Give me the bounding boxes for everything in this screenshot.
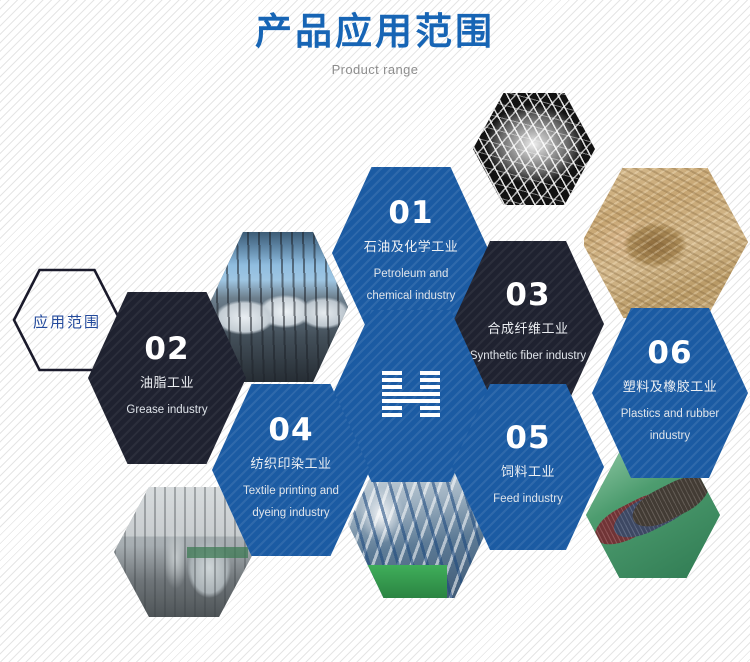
cell-03-label-cn: 合成纤维工业 <box>487 322 568 338</box>
feed-pellets-photo <box>582 166 748 318</box>
collage-frame <box>582 166 748 318</box>
cell-02-number: 02 <box>144 334 189 365</box>
cell-04-number: 04 <box>268 415 313 446</box>
company-h-logo-icon <box>382 371 440 421</box>
page-title: 产品应用范围 <box>0 8 750 56</box>
cell-02-label-en: Grease industry <box>126 400 207 422</box>
cell-01-number: 01 <box>388 198 433 229</box>
cell-06-label-cn: 塑料及橡胶工业 <box>623 380 718 396</box>
cell-06-label-en: Plastics and rubber industry <box>609 404 731 448</box>
cell-05-label-cn: 饲料工业 <box>501 465 555 481</box>
cell-04-label-cn: 纺织印染工业 <box>250 457 331 473</box>
page-header: 产品应用范围 Product range <box>0 8 750 77</box>
cell-04-label-en: Textile printing and dyeing industry <box>229 481 352 525</box>
silo-band <box>187 547 249 559</box>
cell-06-number: 06 <box>647 338 692 369</box>
cell-06[interactable]: 06 塑料及橡胶工业 Plastics and rubber industry <box>592 308 748 478</box>
cell-02-label-cn: 油脂工业 <box>140 376 194 392</box>
cell-03-number: 03 <box>505 280 550 311</box>
fiber-texture <box>473 93 595 205</box>
synthetic-fiber-photo <box>473 93 595 205</box>
cell-01-label-en: Petroleum and chemical industry <box>349 264 472 308</box>
cell-05-number: 05 <box>505 423 550 454</box>
green-fabric <box>362 565 447 598</box>
cell-05-label-en: Feed industry <box>493 489 563 511</box>
cell-01-label-cn: 石油及化学工业 <box>364 240 459 256</box>
page-subtitle: Product range <box>0 62 750 77</box>
page-background: 产品应用范围 Product range 应用范围 02 油脂工业 <box>0 0 750 662</box>
cell-03-label-en: Synthetic fiber industry <box>470 346 586 368</box>
